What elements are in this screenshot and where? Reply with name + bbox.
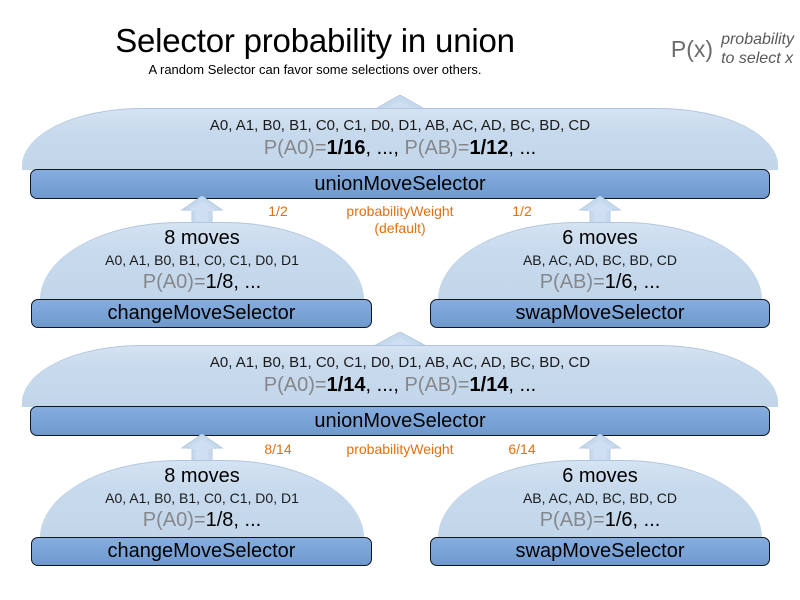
swap-prob-value-2: 1/6, ... xyxy=(605,509,661,531)
change-probability-1: P(A0)=1/8, ... xyxy=(40,271,364,294)
swap-selector-dome-2: 6 moves AB, AC, AD, BC, BD, CD P(AB)=1/6… xyxy=(438,460,762,538)
union-move-selector-bar-2[interactable]: unionMoveSelector xyxy=(30,406,770,436)
change-moves-count-1: 8 moves xyxy=(40,227,364,250)
diagram-canvas: Selector probability in union A random S… xyxy=(0,0,800,600)
legend: P(x) probability to select x xyxy=(671,30,794,68)
swap-moves-list-2: AB, AC, AD, BC, BD, CD xyxy=(438,490,762,506)
union-prob-prefix-b-2: P(AB)= xyxy=(404,374,469,396)
union-prob-value-a-2: 1/14 xyxy=(327,374,366,396)
change-moves-count-2: 8 moves xyxy=(40,465,364,488)
change-moves-list-1: A0, A1, B0, B1, C0, C1, D0, D1 xyxy=(40,252,364,268)
union-prob-tail-2: , ... xyxy=(508,374,536,396)
swap-moves-count-2: 6 moves xyxy=(438,465,762,488)
weight-label-2: probabilityWeight xyxy=(320,441,480,458)
union-dome-2: A0, A1, B0, B1, C0, C1, D0, D1, AB, AC, … xyxy=(22,345,778,407)
swap-moves-list-1: AB, AC, AD, BC, BD, CD xyxy=(438,252,762,268)
swap-probability-2: P(AB)=1/6, ... xyxy=(438,509,762,532)
change-prob-prefix-1: P(A0)= xyxy=(143,271,206,293)
change-probability-2: P(A0)=1/8, ... xyxy=(40,509,364,532)
swap-move-selector-bar-2[interactable]: swapMoveSelector xyxy=(430,537,770,566)
change-selector-dome-1: 8 moves A0, A1, B0, B1, C0, C1, D0, D1 P… xyxy=(40,222,364,300)
swap-move-selector-bar-1[interactable]: swapMoveSelector xyxy=(430,299,770,328)
union-prob-value-b-2: 1/14 xyxy=(469,374,508,396)
union-prob-prefix-a-2: P(A0)= xyxy=(264,374,327,396)
union-move-selector-bar-1[interactable]: unionMoveSelector xyxy=(30,169,770,199)
swap-probability-1: P(AB)=1/6, ... xyxy=(438,271,762,294)
weight-right-2: 6/14 xyxy=(492,441,552,458)
swap-prob-prefix-2: P(AB)= xyxy=(540,509,605,531)
union-prob-separator-2: , ..., xyxy=(366,374,405,396)
change-moves-list-2: A0, A1, B0, B1, C0, C1, D0, D1 xyxy=(40,490,364,506)
union-prob-prefix-b-1: P(AB)= xyxy=(404,137,469,159)
weight-left-2: 8/14 xyxy=(248,441,308,458)
union-prob-value-b-1: 1/12 xyxy=(469,137,508,159)
change-move-selector-bar-1[interactable]: changeMoveSelector xyxy=(31,299,372,328)
change-move-selector-bar-2[interactable]: changeMoveSelector xyxy=(31,537,372,566)
change-selector-dome-2: 8 moves A0, A1, B0, B1, C0, C1, D0, D1 P… xyxy=(40,460,364,538)
swap-prob-value-1: 1/6, ... xyxy=(605,271,661,293)
union-moves-list-1: A0, A1, B0, B1, C0, C1, D0, D1, AB, AC, … xyxy=(22,117,778,134)
change-prob-value-1: 1/8, ... xyxy=(206,271,262,293)
union-prob-prefix-a-1: P(A0)= xyxy=(264,137,327,159)
union-probability-2: P(A0)=1/14, ..., P(AB)=1/14, ... xyxy=(22,374,778,397)
change-prob-value-2: 1/8, ... xyxy=(206,509,262,531)
swap-prob-prefix-1: P(AB)= xyxy=(540,271,605,293)
swap-selector-dome-1: 6 moves AB, AC, AD, BC, BD, CD P(AB)=1/6… xyxy=(438,222,762,300)
legend-description: probability to select x xyxy=(721,30,794,68)
weight-left-1: 1/2 xyxy=(248,203,308,220)
swap-moves-count-1: 6 moves xyxy=(438,227,762,250)
union-probability-1: P(A0)=1/16, ..., P(AB)=1/12, ... xyxy=(22,137,778,160)
legend-symbol: P(x) xyxy=(671,37,713,61)
union-prob-separator-1: , ..., xyxy=(366,137,405,159)
union-prob-tail-1: , ... xyxy=(508,137,536,159)
union-moves-list-2: A0, A1, B0, B1, C0, C1, D0, D1, AB, AC, … xyxy=(22,354,778,371)
weight-right-1: 1/2 xyxy=(492,203,552,220)
union-dome-1: A0, A1, B0, B1, C0, C1, D0, D1, AB, AC, … xyxy=(22,108,778,170)
union-prob-value-a-1: 1/16 xyxy=(327,137,366,159)
change-prob-prefix-2: P(A0)= xyxy=(143,509,206,531)
